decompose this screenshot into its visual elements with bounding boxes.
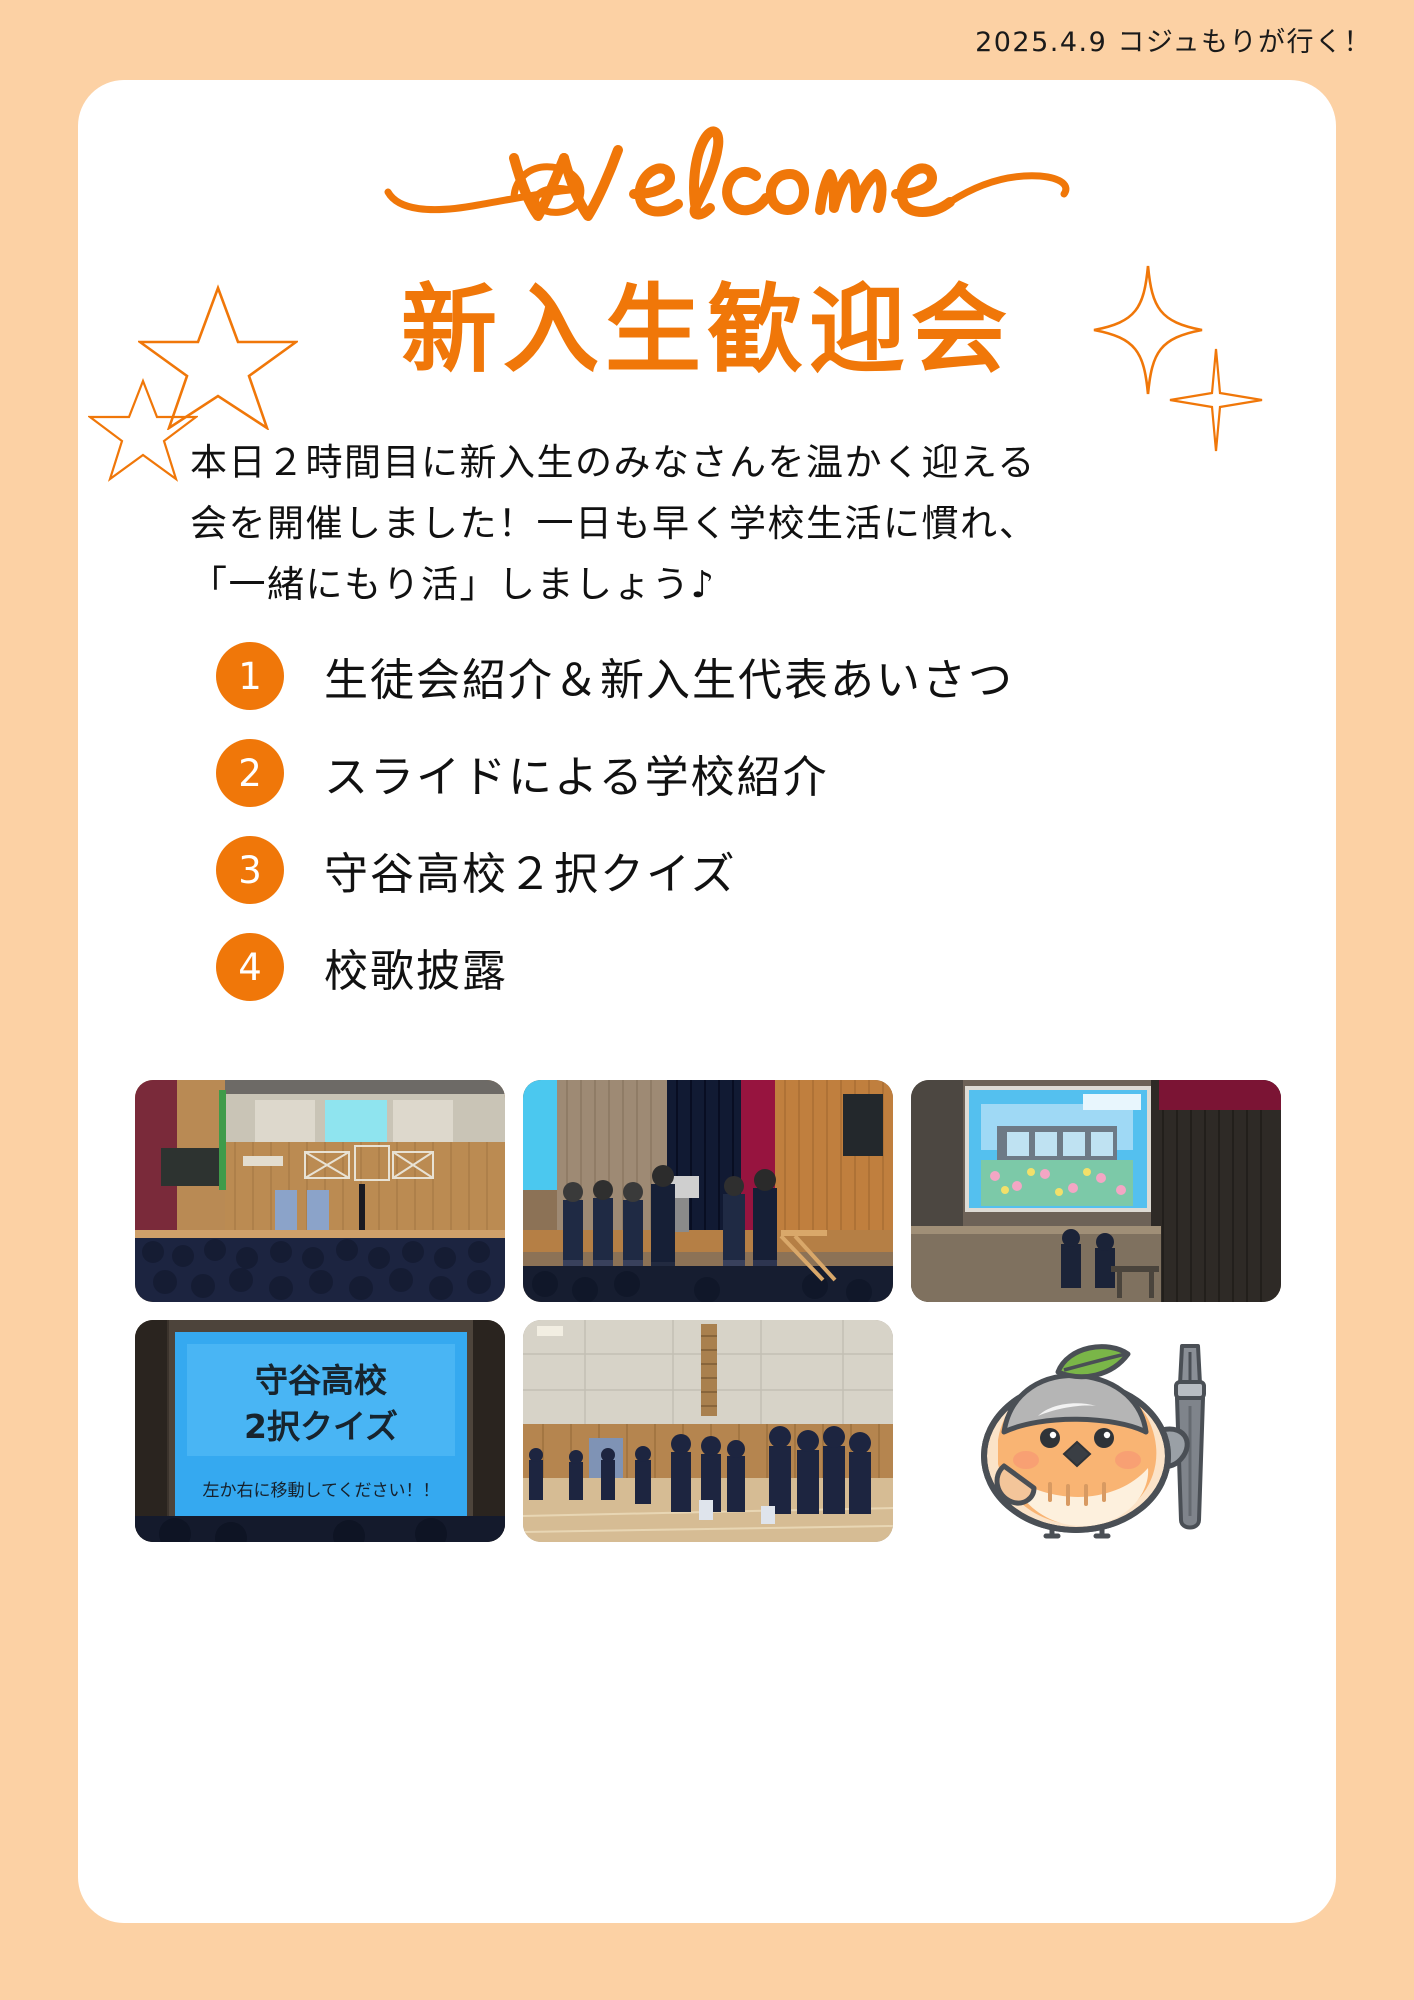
photo-gym-assembly xyxy=(135,1080,505,1302)
leaf-hat-icon xyxy=(1058,1347,1128,1377)
quiz-slide-title-line1: 守谷高校 xyxy=(255,1361,387,1400)
page-title: 新入生歓迎会 xyxy=(78,280,1336,381)
header-strip: 2025.4.9 コジュもりが行く！ xyxy=(0,0,1414,78)
mascot-cell xyxy=(911,1320,1281,1542)
kojumori-bird-mascot-icon xyxy=(946,1320,1246,1542)
agenda-item-1: 1 生徒会紹介＆新入生代表あいさつ xyxy=(216,628,1296,724)
agenda-number-badge: 2 xyxy=(216,739,284,807)
agenda-number-badge: 4 xyxy=(216,933,284,1001)
small-star-outline-icon xyxy=(88,375,198,485)
agenda-item-label: 守谷高校２択クイズ xyxy=(324,838,737,902)
header-date-label: 2025.4.9 コジュもりが行く！ xyxy=(975,20,1372,59)
agenda-item-3: 3 守谷高校２択クイズ xyxy=(216,822,1296,918)
title-block: 新入生歓迎会 xyxy=(78,250,1336,430)
agenda-number-badge: 3 xyxy=(216,836,284,904)
intro-line-2: 会を開催しました！一日も早く学校生活に慣れ、 xyxy=(190,493,1250,554)
mascot-eye-right xyxy=(1094,1428,1114,1448)
agenda-item-label: 校歌披露 xyxy=(324,935,508,999)
agenda-item-2: 2 スライドによる学校紹介 xyxy=(216,725,1296,821)
photo-students-moving xyxy=(523,1320,893,1542)
intro-paragraph: 本日２時間目に新入生のみなさんを温かく迎える 会を開催しました！一日も早く学校生… xyxy=(190,432,1250,615)
quiz-slide-title-line2: 2択クイズ xyxy=(244,1407,398,1446)
intro-line-3: 「一緒にもり活」しましょう♪ xyxy=(190,554,1250,615)
agenda-list: 1 生徒会紹介＆新入生代表あいさつ 2 スライドによる学校紹介 3 守谷高校２択… xyxy=(216,628,1296,1016)
poster-page: 2025.4.9 コジュもりが行く！ xyxy=(0,0,1414,2000)
photo-slide-presentation xyxy=(911,1080,1281,1302)
agenda-item-4: 4 校歌披露 xyxy=(216,919,1296,1015)
welcome-script-icon xyxy=(78,106,1336,236)
welcome-script-wrap xyxy=(78,106,1336,236)
quiz-slide-subtitle: 左か右に移動してください！！ xyxy=(203,1481,440,1501)
intro-line-1: 本日２時間目に新入生のみなさんを温かく迎える xyxy=(190,432,1250,493)
content-card: 新入生歓迎会 本日２時間目に新入生のみなさんを温かく迎える 会を開催しました！一… xyxy=(78,80,1336,1923)
photo-grid: 守谷高校 2択クイズ 左か右に移動してください！！ xyxy=(118,1080,1298,1542)
agenda-item-label: 生徒会紹介＆新入生代表あいさつ xyxy=(324,644,1014,708)
photo-stage-greeting xyxy=(523,1080,893,1302)
photo-quiz-slide: 守谷高校 2択クイズ 左か右に移動してください！！ xyxy=(135,1320,505,1542)
mascot-eye-left xyxy=(1040,1428,1060,1448)
agenda-number-badge: 1 xyxy=(216,642,284,710)
agenda-item-label: スライドによる学校紹介 xyxy=(324,741,829,805)
